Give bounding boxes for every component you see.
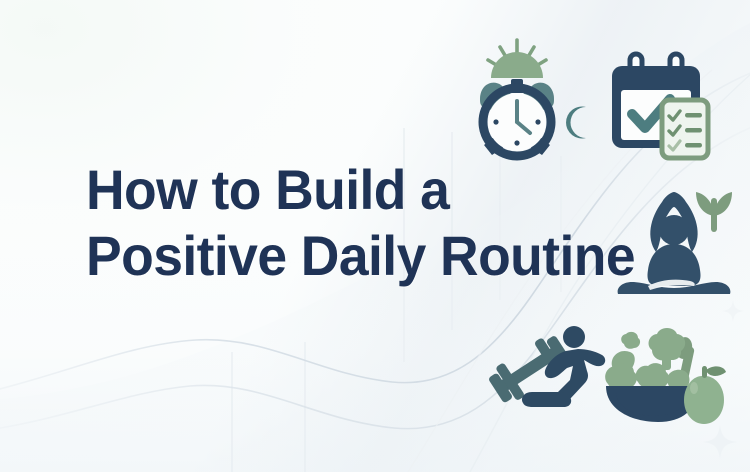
healthy-food-icon <box>602 322 730 426</box>
title-banner-canvas: How to Build a Positive Daily Routine <box>0 0 750 472</box>
yoga-meditation-icon <box>616 186 732 298</box>
page-title-line-2: Positive Daily Routine <box>86 223 635 289</box>
sun-dome-icon <box>491 52 543 78</box>
vegetables-icon <box>605 328 689 391</box>
meditation-head-icon <box>659 215 689 245</box>
plant-sprout-icon <box>696 192 732 232</box>
page-title-line-1: How to Build a <box>86 157 635 223</box>
fitness-icon <box>490 322 608 418</box>
apple-icon <box>684 366 726 424</box>
crescent-moon-icon <box>566 107 586 139</box>
alarm-clock-icon <box>474 33 600 157</box>
page-title: How to Build a Positive Daily Routine <box>86 157 661 289</box>
calendar-checklist-icon <box>606 52 716 164</box>
